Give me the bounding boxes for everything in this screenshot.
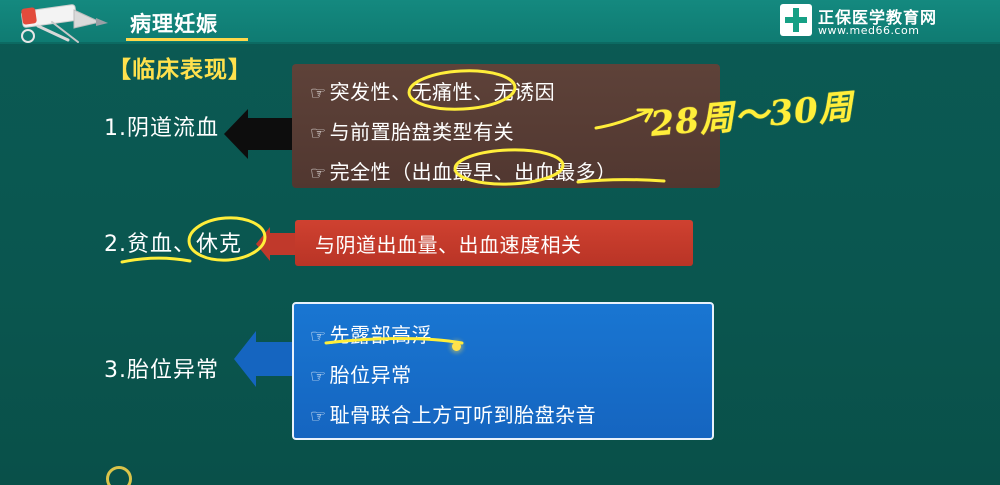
content-box-fetal-position: ☞先露部高浮 ☞胎位异常 ☞耻骨联合上方可听到胎盘杂音 (292, 302, 714, 440)
section-heading: 【临床表现】 (108, 50, 252, 84)
box1-line-2-text: 与前置胎盘类型有关 (330, 120, 515, 144)
header-bar: 病理妊娠 正保医学教育网 www.med66.com (0, 0, 1000, 44)
box3-line-1-text: 先露部高浮 (330, 323, 433, 347)
box2-text: 与阴道出血量、出血速度相关 (315, 229, 582, 258)
box1-line-2: ☞与前置胎盘类型有关 (310, 116, 514, 145)
pointing-hand-icon: ☞ (310, 123, 327, 144)
slide-canvas: 病理妊娠 正保医学教育网 www.med66.com 【临床表现】 1.阴道流血… (0, 0, 1000, 485)
arrow-item3-to-box3 (232, 330, 296, 388)
cursor-highlight-dot (452, 342, 461, 351)
pen-doodle-icon (8, 2, 120, 46)
ink-underline-pinxue (122, 258, 190, 262)
header-title-underline (126, 38, 248, 41)
box1-line-1: ☞突发性、无痛性、无诱因 (310, 76, 555, 105)
pointing-hand-icon: ☞ (310, 83, 327, 104)
arrow-item2-to-box2 (254, 226, 298, 262)
box3-line-3: ☞耻骨联合上方可听到胎盘杂音 (310, 399, 596, 428)
pointing-hand-icon: ☞ (310, 406, 327, 427)
box3-line-1: ☞先露部高浮 (310, 319, 432, 348)
logo-url: www.med66.com (818, 24, 919, 37)
cross-logo-icon (780, 4, 812, 36)
list-item-3: 3.胎位异常 (104, 352, 219, 384)
pointing-hand-icon: ☞ (310, 366, 327, 387)
pointing-hand-icon: ☞ (310, 326, 327, 347)
list-item-1: 1.阴道流血 (104, 110, 219, 142)
content-box-anemia-shock: 与阴道出血量、出血速度相关 (295, 220, 693, 266)
box1-line-1-text: 突发性、无痛性、无诱因 (330, 80, 556, 104)
box1-line-3-text: 完全性（出血最早、出血最多） (330, 160, 617, 184)
list-item-2: 2.贫血、休克 (104, 226, 242, 258)
bottom-ink-mark (106, 466, 132, 485)
site-logo: 正保医学教育网 www.med66.com (780, 2, 990, 42)
box3-line-2-text: 胎位异常 (330, 363, 412, 387)
header-title: 病理妊娠 (130, 8, 218, 38)
box3-line-3-text: 耻骨联合上方可听到胎盘杂音 (330, 403, 597, 427)
pointing-hand-icon: ☞ (310, 163, 327, 184)
arrow-item1-to-box1 (222, 108, 294, 160)
box1-line-3: ☞完全性（出血最早、出血最多） (310, 156, 617, 185)
box3-line-2: ☞胎位异常 (310, 359, 412, 388)
